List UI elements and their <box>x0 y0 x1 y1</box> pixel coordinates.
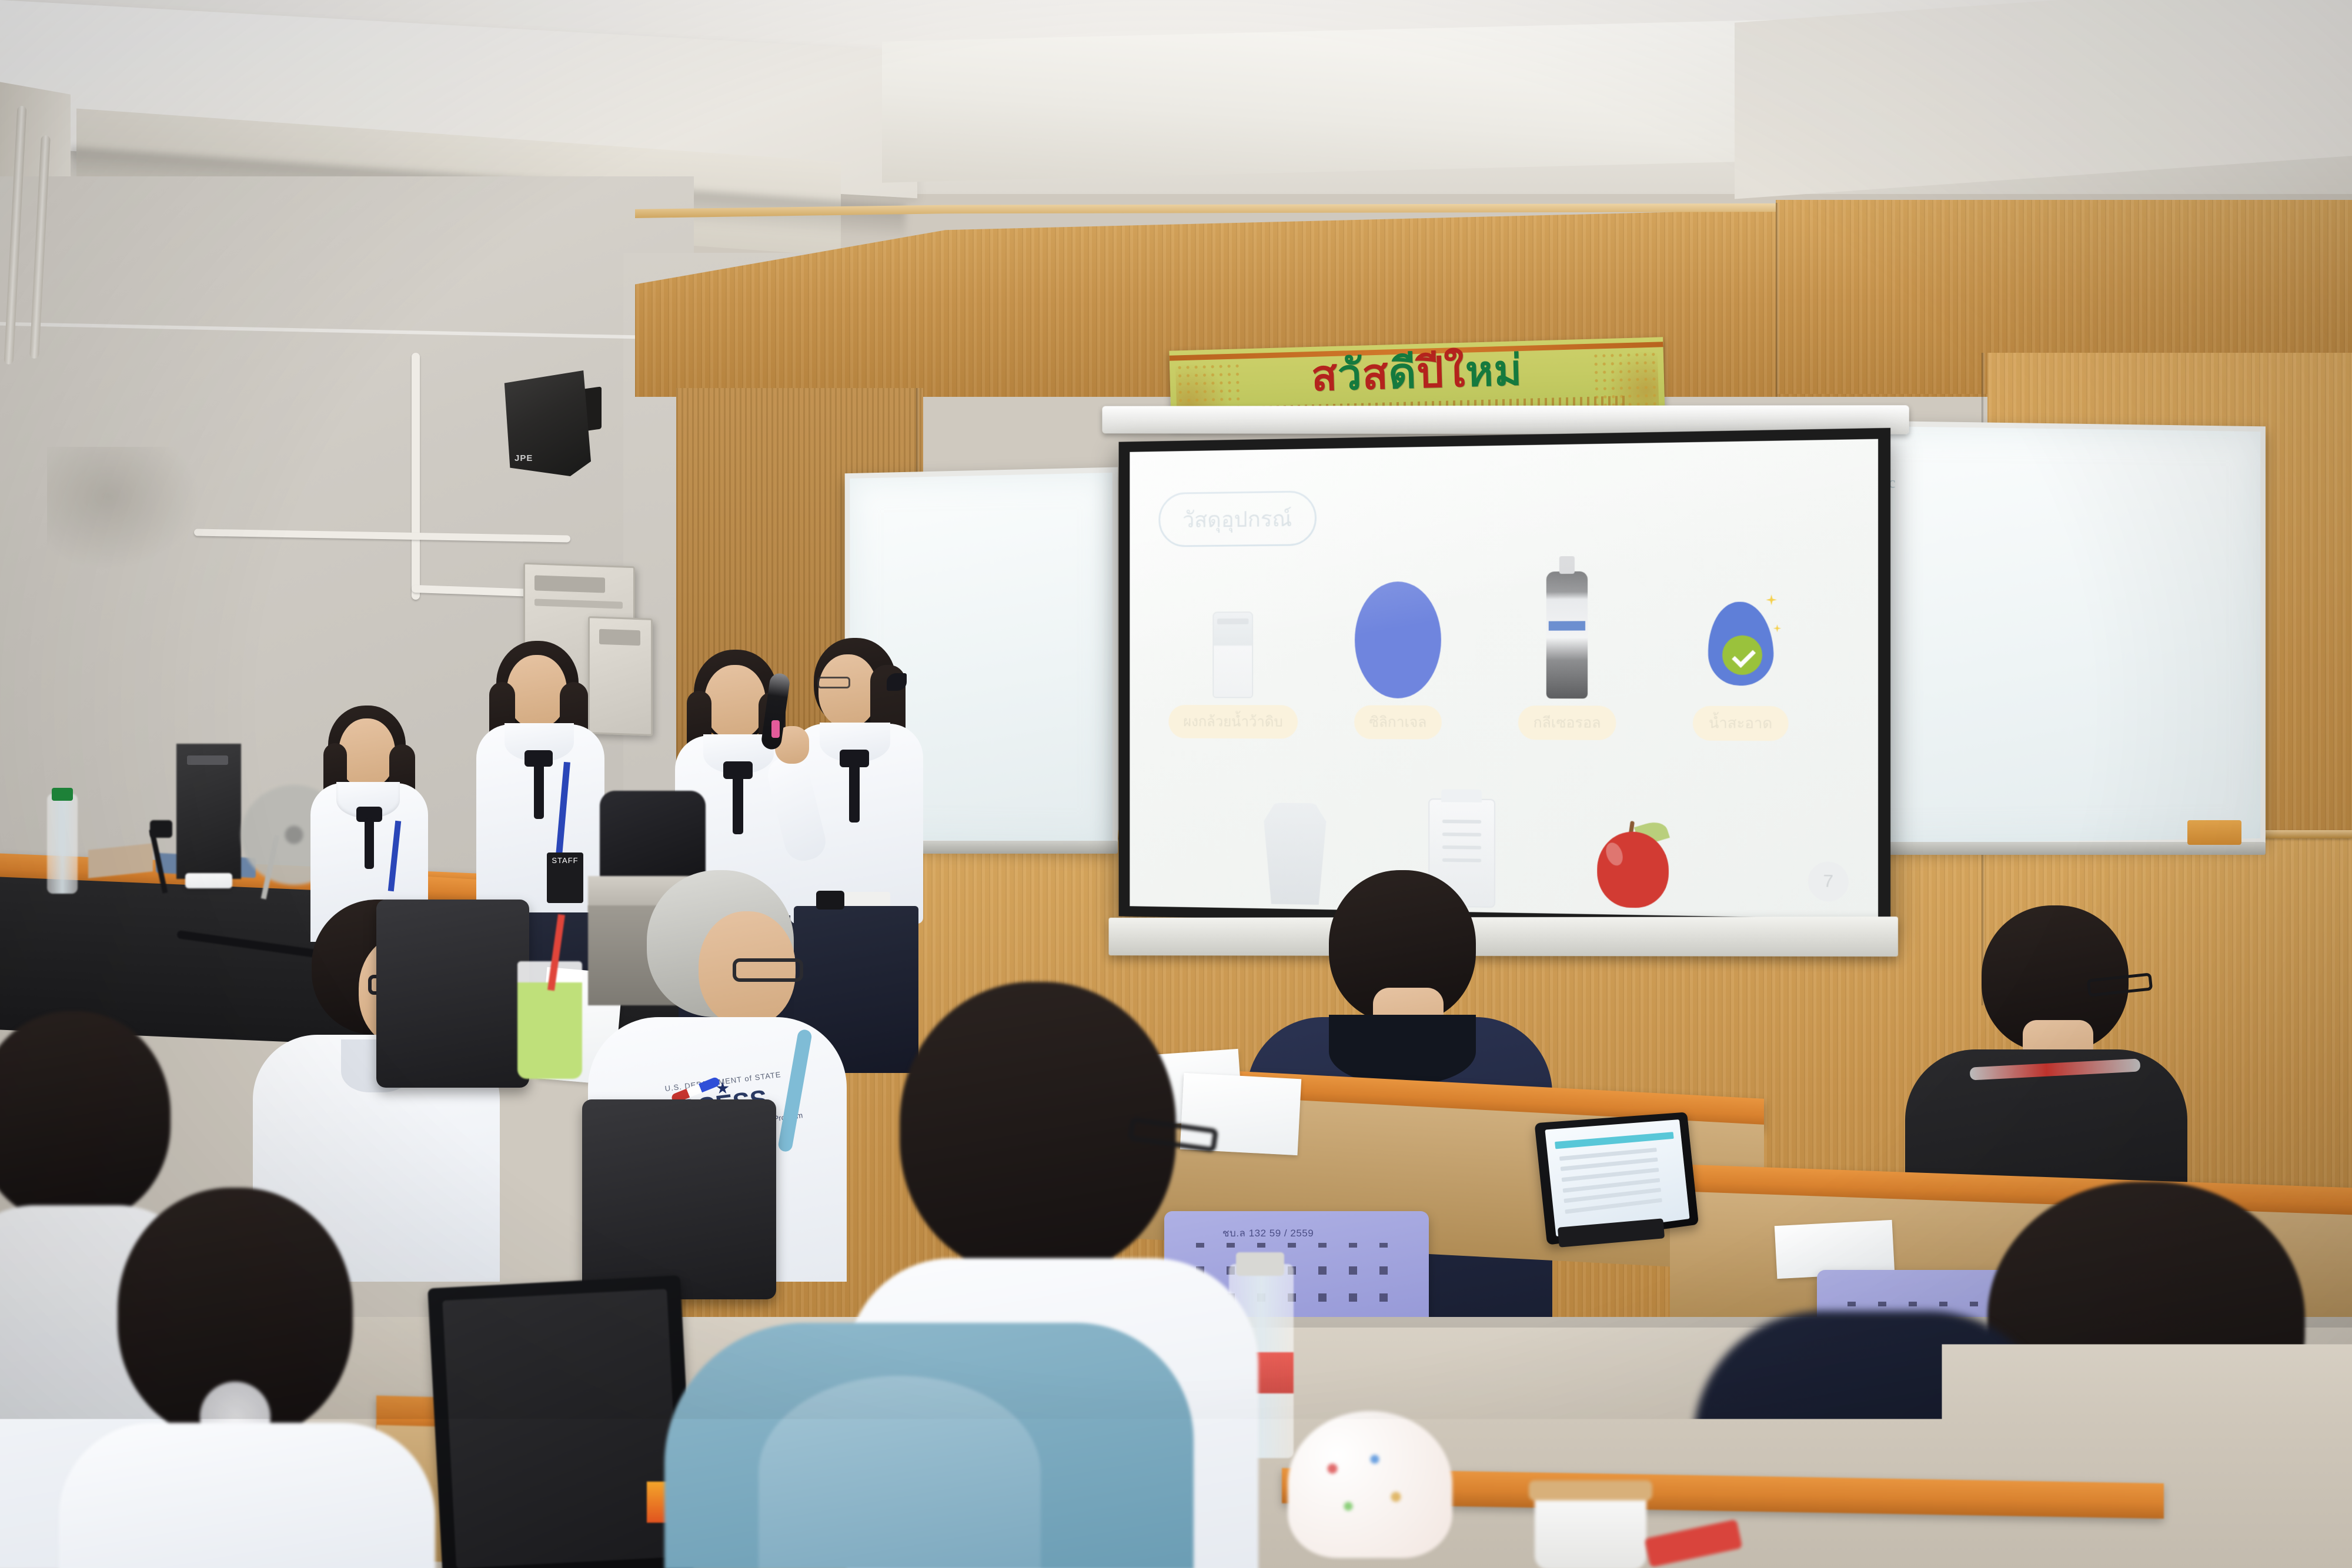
jacket-collar <box>1329 1015 1476 1085</box>
jacket-dark <box>1693 1311 2058 1568</box>
office-chair[interactable] <box>376 900 529 1088</box>
foreground-person-right-2 <box>1693 1311 2058 1568</box>
banner-char-2: ส <box>1361 350 1389 398</box>
shirt <box>59 1423 435 1568</box>
paper-cup-rim <box>1529 1480 1652 1500</box>
hair-ribbon <box>887 673 907 691</box>
panel-slot-secondary <box>534 599 623 609</box>
projection-screen: วัสดุอุปกรณ์ ผงกล้วยน้ำว้าดิบ ซิลิกาเจล … <box>1119 428 1891 931</box>
face <box>339 718 395 788</box>
sweater-fold <box>759 1376 1041 1568</box>
slide-item-label: ผงกล้วยน้ำว้าดิบ <box>1169 705 1298 739</box>
desk-small-tray <box>185 873 232 888</box>
whiteboard-eraser <box>2187 820 2241 845</box>
foreground-tablet[interactable] <box>427 1275 696 1568</box>
wall-speaker: JPE <box>497 370 591 476</box>
bow-tie-tail <box>733 775 743 834</box>
tablet-app-header <box>1555 1132 1674 1149</box>
tablet-screen[interactable] <box>1545 1119 1690 1236</box>
staff-badge[interactable]: STAFF <box>547 852 583 903</box>
bow-tie-tail <box>365 818 374 869</box>
classroom-presentation-scene: JPE สวัสดีปีใหม่ Sinc วัสด <box>0 0 2352 1568</box>
wood-seam <box>1776 203 1779 397</box>
slide-page-number: 7 <box>1808 861 1849 902</box>
slide-materials-grid: ผงกล้วยน้ำว้าดิบ ซิลิกาเจล กลีเซอรอล <box>1152 560 1829 919</box>
office-chair-2[interactable] <box>582 1099 776 1299</box>
bow-tie-tail <box>534 763 544 819</box>
wall-stain <box>47 447 200 570</box>
bottle-icon <box>1482 562 1653 699</box>
slide-item-label: กลีเซอรอล <box>1518 706 1616 740</box>
banner-char-5: ใ <box>1444 349 1466 396</box>
conduit-vertical <box>412 353 420 600</box>
slide-item-label: น้ำสะอาด <box>1693 706 1788 741</box>
banner-char-7: ม่ <box>1493 347 1523 394</box>
slide-row-1: ผงกล้วยน้ำว้าดิบ ซิลิกาเจล กลีเซอรอล <box>1152 560 1829 741</box>
tower-drive-slot <box>187 755 228 765</box>
microphone-grip-band <box>771 720 780 738</box>
jar-icon <box>1152 565 1315 698</box>
slide-item: ซิลิกาเจล <box>1315 563 1482 740</box>
banner-char-3: ดี <box>1388 350 1417 397</box>
water-drop-icon <box>1653 560 1829 699</box>
bow-tie-tail <box>849 764 860 823</box>
banner-char-4: ปี <box>1416 349 1445 397</box>
banner-char-0: ส <box>1311 352 1338 400</box>
eyeglasses <box>817 677 850 688</box>
face <box>704 665 766 739</box>
staff-badge-label: STAFF <box>552 856 578 865</box>
eyeglasses <box>733 958 803 982</box>
chair-asset-tag: ชบ.ล 132 59 / 2559 <box>1222 1225 1314 1241</box>
apple-icon <box>1546 773 1719 912</box>
blue-circle-icon <box>1315 563 1482 698</box>
snack-bag-pattern <box>1311 1440 1417 1534</box>
face <box>507 655 567 728</box>
slide-item: กลีเซอรอล <box>1482 562 1653 741</box>
foreground-person-left-2 <box>82 1188 412 1568</box>
banner-char-1: วั <box>1337 352 1363 399</box>
water-bottle <box>47 794 78 894</box>
slide-item: น้ำสะอาด <box>1653 560 1829 741</box>
slide-title: วัสดุอุปกรณ์ <box>1158 490 1316 547</box>
foreground-bottle-cap <box>1236 1252 1284 1276</box>
face <box>818 654 877 727</box>
slide-item-label: ซิลิกาเจล <box>1354 706 1442 740</box>
slide-item: ผงกล้วยน้ำว้าดิบ <box>1152 565 1315 739</box>
foreground-person-blue-sweater <box>664 1323 1194 1568</box>
foreground-tablet-cover <box>442 1289 680 1568</box>
speaker-brand-label: JPE <box>514 453 533 463</box>
bottle-cap <box>52 788 73 801</box>
ceiling-beam-center <box>882 17 1882 183</box>
microphone-head <box>150 820 172 838</box>
projected-slide: วัสดุอุปกรณ์ ผงกล้วยน้ำว้าดิบ ซิลิกาเจล … <box>1130 439 1878 920</box>
panel-slot <box>534 575 605 593</box>
slide-item: แอปเปิ้ล <box>1546 773 1719 920</box>
banner-char-6: ห <box>1465 347 1495 395</box>
